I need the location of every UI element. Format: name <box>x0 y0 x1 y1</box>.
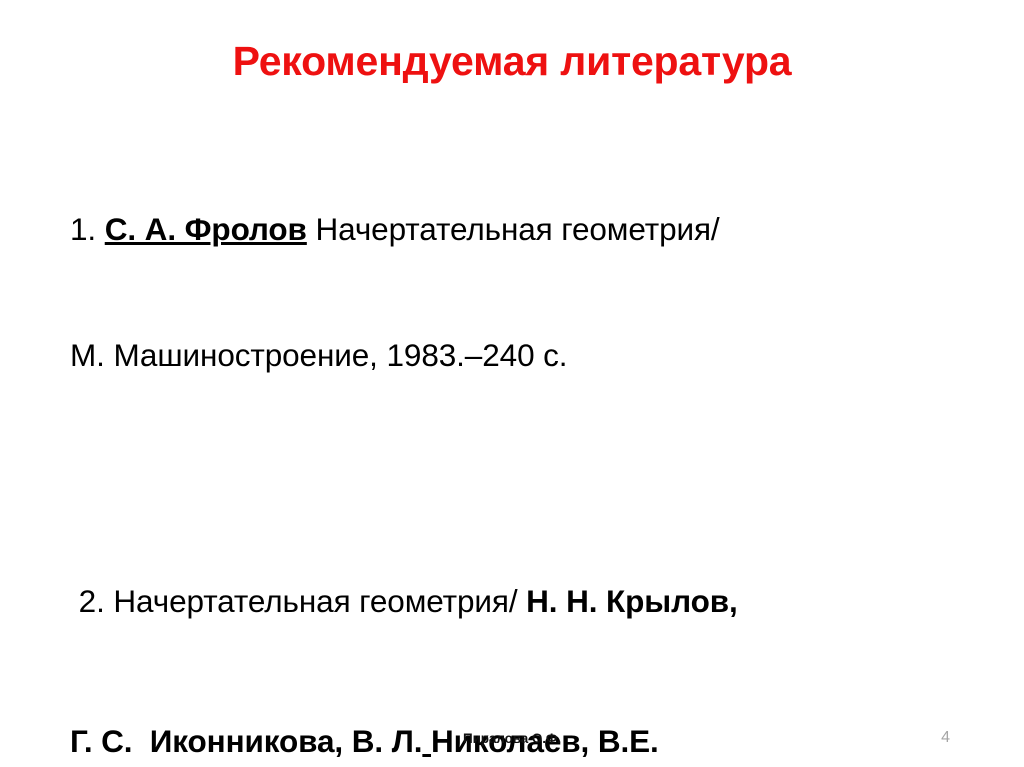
reference-1-imprint: М. Машиностроение, 1983.–240 с. <box>70 337 567 373</box>
reference-1-line-2: М. Машиностроение, 1983.–240 с. <box>70 334 970 376</box>
reference-1-title: Начертательная геометрия/ <box>307 211 720 247</box>
reference-2-line-1: 2. Начертательная геометрия/ Н. Н. Крыло… <box>70 580 970 622</box>
slide: Рекомендуемая литература 1. С. А. Фролов… <box>0 0 1024 767</box>
footer-author: Пиралова О.Ф. <box>0 731 1024 746</box>
reference-list: 1. С. А. Фролов Начертательная геометрия… <box>70 124 970 767</box>
page-number: 4 <box>941 729 950 747</box>
reference-1-line-1: 1. С. А. Фролов Начертательная геометрия… <box>70 208 970 250</box>
reference-2-author-1: Н. Н. Крылов, <box>526 583 738 619</box>
reference-1-author: С. А. Фролов <box>105 211 307 247</box>
slide-footer: Пиралова О.Ф. 4 <box>0 715 1024 767</box>
list-item: 1. С. А. Фролов Начертательная геометрия… <box>70 124 970 460</box>
reference-1-number: 1. <box>70 211 105 247</box>
reference-2-title: 2. Начертательная геометрия/ <box>70 583 526 619</box>
page-title: Рекомендуемая литература <box>0 37 1024 85</box>
